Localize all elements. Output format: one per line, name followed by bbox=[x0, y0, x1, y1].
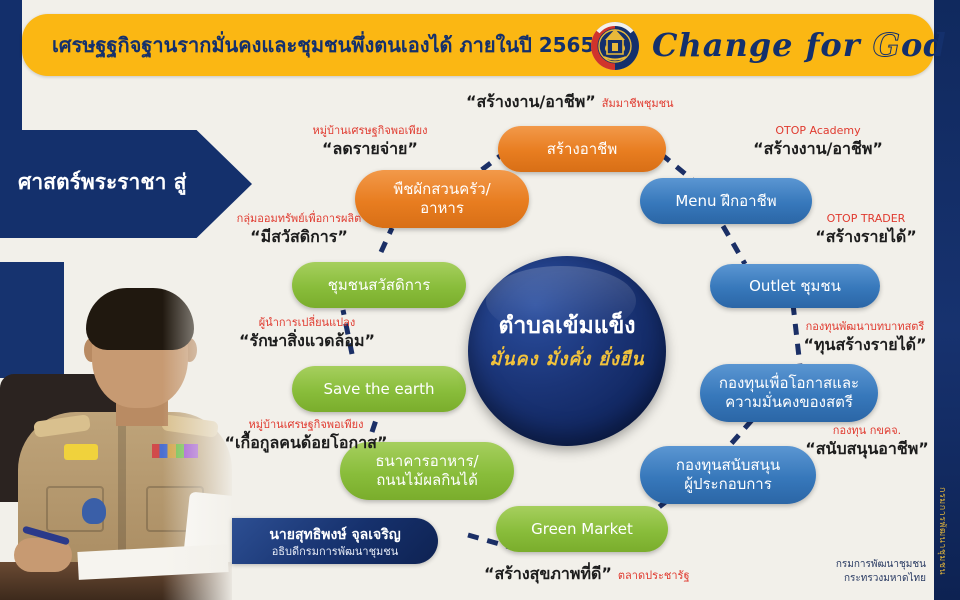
anno-source: หมู่บ้านเศรษฐกิจพอเพียง bbox=[196, 418, 416, 432]
credit-line-2: กระทรวงมหาดไทย bbox=[836, 572, 926, 586]
header-title: เศรษฐฐกิจฐานรากมั่นคงและชุมชนพึ่งตนเองได… bbox=[52, 30, 572, 60]
hub-title: ตำบลเข้มแข็ง bbox=[468, 308, 666, 344]
left-top-navy-bar bbox=[0, 0, 22, 130]
node-label-line2: อาหาร bbox=[420, 199, 464, 218]
node-label: Outlet ชุมชน bbox=[749, 277, 841, 296]
anno-village-poor: หมู่บ้านเศรษฐกิจพอเพียง “เกื้อกูลคนด้อยโ… bbox=[196, 418, 416, 453]
anno-saving-group: กลุ่มออมทรัพย์เพื่อการผลิต “มีสวัสดิการ” bbox=[190, 212, 408, 247]
anno-change-leader: ผู้นำการเปลี่ยนแปลง “รักษาสิ่งแวดล้อม” bbox=[206, 316, 408, 351]
node-label-line1: พืชผักสวนครัว/ bbox=[393, 180, 490, 199]
right-bar-label: กรมการพัฒนาชุมชน bbox=[935, 466, 959, 596]
anno-source: กองทุนพัฒนาบทบาทสตรี bbox=[790, 320, 940, 334]
node-label: สร้างอาชีพ bbox=[547, 140, 617, 159]
header-slogan: Change for God bbox=[652, 20, 947, 70]
anno-quote: “สร้างสุขภาพที่ดี” bbox=[484, 564, 612, 583]
anno-kkj-fund: กองทุน กขคจ. “สนับสนุนอาชีพ” bbox=[792, 424, 942, 459]
anno-quote: “รักษาสิ่งแวดล้อม” bbox=[206, 330, 408, 351]
center-hub: ตำบลเข้มแข็ง มั่นคง มั่งคั่ง ยั่งยืน bbox=[468, 256, 666, 446]
anno-source: OTOP Academy bbox=[718, 124, 918, 138]
node-label-line2: ความมั่นคงของสตรี bbox=[725, 393, 853, 412]
slogan-text-1: Change for bbox=[652, 26, 873, 64]
arrow-banner-label: ศาสตร์พระราชา สู่ bbox=[18, 166, 218, 199]
anno-women-fund: กองทุนพัฒนาบทบาทสตรี “ทุนสร้างรายได้” bbox=[790, 320, 940, 355]
node-label-line1: ธนาคารอาหาร/ bbox=[375, 452, 478, 471]
nameplate: นายสุทธิพงษ์ จุลเจริญ อธิบดีกรมการพัฒนาช… bbox=[232, 518, 438, 564]
anno-source: หมู่บ้านเศรษฐกิจพอเพียง bbox=[268, 124, 472, 138]
anno-quote: “สร้างรายได้” bbox=[790, 226, 942, 247]
anno-quote: “ทุนสร้างรายได้” bbox=[790, 334, 940, 355]
anno-quote: “สร้างงาน/อาชีพ” bbox=[466, 92, 596, 111]
anno-otop-academy: OTOP Academy “สร้างงาน/อาชีพ” bbox=[718, 124, 918, 159]
nameplate-position: อธิบดีกรมการพัฒนาชุมชน bbox=[242, 542, 428, 560]
anno-source: กองทุน กขคจ. bbox=[792, 424, 942, 438]
node-label: ชุมชนสวัสดิการ bbox=[328, 276, 431, 295]
anno-quote: “มีสวัสดิการ” bbox=[190, 226, 408, 247]
anno-quote: “ลดรายจ่าย” bbox=[268, 138, 472, 159]
anno-sammachip: “สร้างงาน/อาชีพ”สัมมาชีพชุมชน bbox=[466, 90, 674, 115]
header-banner: เศรษฐฐกิจฐานรากมั่นคงและชุมชนพึ่งตนเองได… bbox=[22, 14, 934, 76]
cdd-seal-icon bbox=[590, 21, 640, 71]
node-label-line2: ผู้ประกอบการ bbox=[684, 475, 772, 494]
node-sang-achip[interactable]: สร้างอาชีพ bbox=[498, 126, 666, 172]
node-outlet[interactable]: Outlet ชุมชน bbox=[710, 264, 880, 308]
node-save-earth[interactable]: Save the earth bbox=[292, 366, 466, 412]
anno-pracharat: “สร้างสุขภาพที่ดี”ตลาดประชารัฐ bbox=[484, 562, 690, 587]
anno-source: OTOP TRADER bbox=[790, 212, 942, 226]
node-chumchon-sawat[interactable]: ชุมชนสวัสดิการ bbox=[292, 262, 466, 308]
node-label: Menu ฝึกอาชีพ bbox=[675, 192, 776, 211]
node-label: Save the earth bbox=[324, 380, 435, 399]
node-menu-fuek[interactable]: Menu ฝึกอาชีพ bbox=[640, 178, 812, 224]
anno-quote: “สร้างงาน/อาชีพ” bbox=[718, 138, 918, 159]
slogan-text-g: G bbox=[873, 26, 901, 64]
credit-block: กรมการพัฒนาชุมชน กระทรวงมหาดไทย bbox=[836, 558, 926, 586]
node-label-line2: ถนนไม้ผลกินได้ bbox=[376, 471, 478, 490]
hub-subtitle: มั่นคง มั่งคั่ง ยั่งยืน bbox=[468, 344, 666, 373]
node-label-line1: กองทุนเพื่อโอกาสและ bbox=[719, 374, 859, 393]
node-kongthun-support[interactable]: กองทุนสนับสนุน ผู้ประกอบการ bbox=[640, 446, 816, 504]
anno-source: ตลาดประชารัฐ bbox=[618, 569, 690, 582]
anno-quote: “เกื้อกูลคนด้อยโอกาส” bbox=[196, 432, 416, 453]
anno-source: ผู้นำการเปลี่ยนแปลง bbox=[206, 316, 408, 330]
node-label: Green Market bbox=[531, 520, 633, 539]
slogan-text-3: od bbox=[901, 26, 947, 64]
anno-village-suf: หมู่บ้านเศรษฐกิจพอเพียง “ลดรายจ่าย” bbox=[268, 124, 472, 159]
node-green-market[interactable]: Green Market bbox=[496, 506, 668, 552]
anno-source: กลุ่มออมทรัพย์เพื่อการผลิต bbox=[190, 212, 408, 226]
credit-line-1: กรมการพัฒนาชุมชน bbox=[836, 558, 926, 572]
anno-source: สัมมาชีพชุมชน bbox=[602, 97, 674, 110]
anno-otop-trader: OTOP TRADER “สร้างรายได้” bbox=[790, 212, 942, 247]
infographic-canvas: กรมการพัฒนาชุมชน เศรษฐฐกิจฐานรากมั่นคงแล… bbox=[0, 0, 960, 600]
node-label-line1: กองทุนสนับสนุน bbox=[676, 456, 780, 475]
node-kongthun-okat[interactable]: กองทุนเพื่อโอกาสและ ความมั่นคงของสตรี bbox=[700, 364, 878, 422]
anno-quote: “สนับสนุนอาชีพ” bbox=[792, 438, 942, 459]
